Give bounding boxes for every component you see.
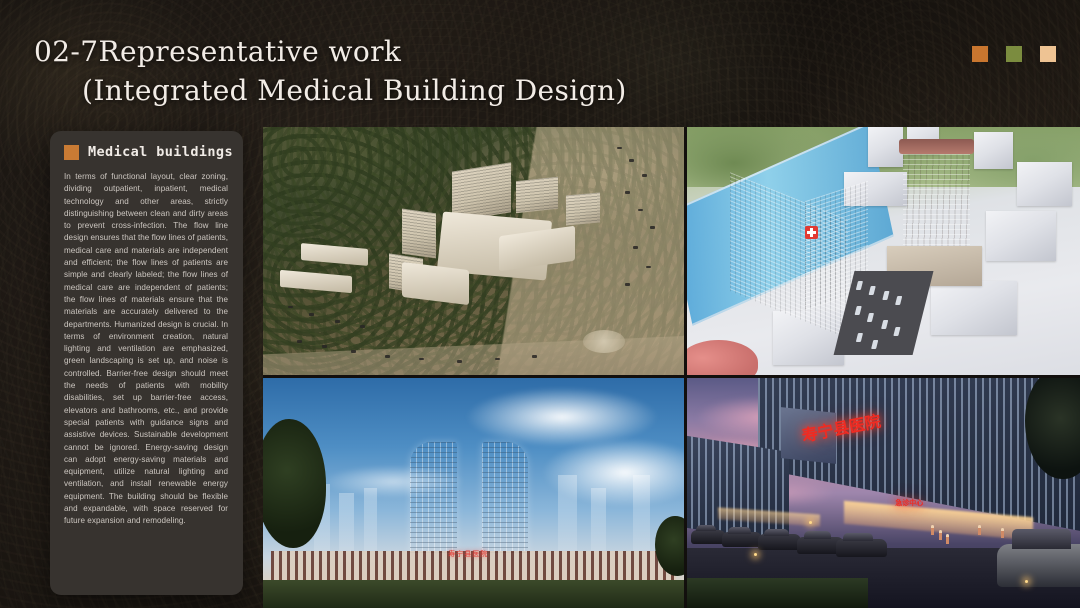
square-tan-icon [1040,46,1056,62]
gallery-image-twin-glass-towers[interactable]: 寿宁县医院 [263,378,684,608]
urban-block-5 [986,211,1057,261]
pedestrian-2 [939,530,942,540]
parked-car-3 [758,534,801,550]
gallery-image-urban-hospital-tower[interactable] [687,127,1080,375]
slide-heading: 02-7Representative work (Integrated Medi… [34,33,814,110]
square-olive-icon [1006,46,1022,62]
urban-block-4 [1017,162,1072,207]
foreground-suv [997,544,1080,588]
aerial-parked-cars [263,127,684,375]
urban-tower-crown [899,139,974,154]
panel-title: Medical buildings [88,144,233,160]
image-gallery-grid: 寿宁县医院 寿宁县医院 急诊中心 [263,127,1080,608]
heading-line-2: (Integrated Medical Building Design) [34,72,814,111]
red-cross-icon [805,226,818,239]
urban-block-3 [974,132,1013,169]
podium-sign-text: 寿宁县医院 [448,549,488,559]
distant-tower-5 [591,488,606,557]
parked-car-2 [722,532,761,547]
panel-header: Medical buildings [64,144,228,160]
pedestrian-4 [978,525,981,535]
glass-tower-right [482,442,528,557]
pedestrian-5 [1001,528,1004,538]
slide-root: 02-7Representative work (Integrated Medi… [0,0,1080,608]
entrance-sign-text: 急诊中心 [895,498,923,508]
parked-car-1 [691,530,726,544]
gallery-image-aerial-hospital-campus[interactable] [263,127,684,375]
decor-squares [972,46,1056,62]
description-panel: Medical buildings In terms of functional… [50,131,243,595]
panel-marker-icon [64,145,79,160]
square-orange-icon [972,46,988,62]
distant-tower-6 [633,475,650,558]
pedestrian-1 [931,525,934,535]
pedestrian-3 [946,534,949,544]
gallery-image-dusk-street-entrance[interactable]: 寿宁县医院 急诊中心 [687,378,1080,608]
glass-tower-left [410,442,456,557]
distant-tower-4 [558,475,577,558]
bollard-lamp-3 [809,521,812,524]
bollard-lamp-1 [754,553,757,556]
urban-block-6 [931,281,1017,336]
street-grass-verge [687,578,868,608]
parked-car-5 [836,539,887,557]
panel-body-text: In terms of functional layout, clear zon… [64,171,228,528]
foreground-lawn [263,580,684,608]
heading-line-1: 02-7Representative work [34,35,401,68]
urban-block-1 [868,127,903,167]
